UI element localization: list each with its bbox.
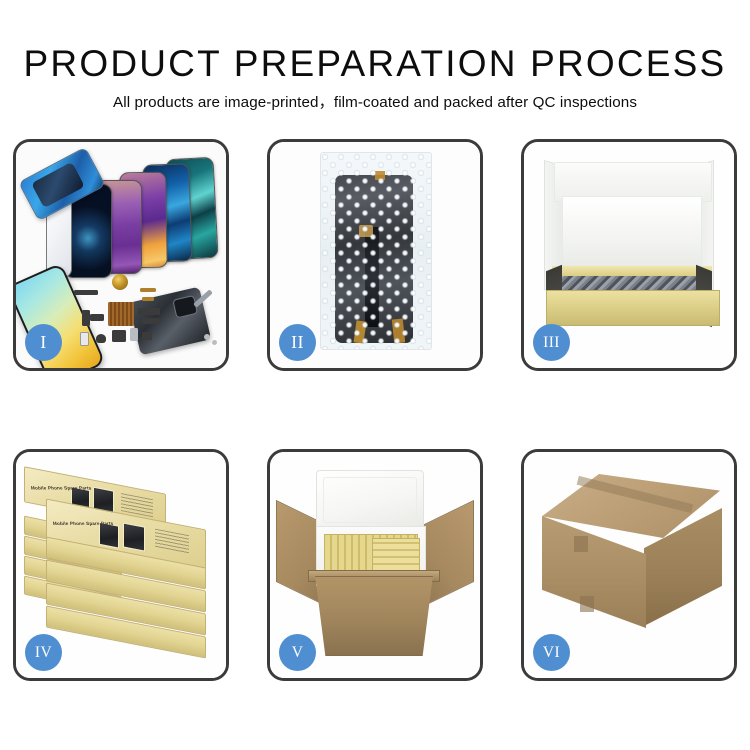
process-step-panel-6[interactable]: VI — [521, 449, 737, 681]
part-flex-cable-2 — [142, 318, 160, 324]
bubble-texture — [321, 153, 431, 349]
step-badge-1: I — [25, 324, 62, 361]
part-logic-board — [108, 302, 134, 326]
part-camera-module — [112, 330, 126, 342]
step-badge-4: IV — [25, 634, 62, 671]
part-connector-strip — [74, 290, 98, 295]
part-flex-cable-1 — [138, 308, 160, 315]
carton-body — [310, 576, 438, 656]
box-label-lower: Mobile Phone Spare Parts — [53, 521, 114, 526]
process-step-panel-5[interactable]: V — [267, 449, 483, 681]
carton-tape-patch-1 — [574, 536, 588, 552]
box-rim — [552, 266, 712, 276]
process-step-panel-1[interactable]: I — [13, 139, 229, 371]
part-taptic-engine — [96, 334, 106, 343]
carton-tape-patch-2 — [580, 596, 594, 612]
part-bracket-1 — [82, 310, 90, 326]
step-badge-3: III — [533, 324, 570, 361]
part-bracket-2 — [90, 314, 104, 321]
box-front-panel — [546, 290, 720, 326]
part-gold-flex-2 — [142, 297, 154, 301]
process-step-grid: I II — [13, 139, 737, 681]
step-badge-5: V — [279, 634, 316, 671]
process-step-panel-3[interactable]: III — [521, 139, 737, 371]
step-badge-2: II — [279, 324, 316, 361]
page-header: PRODUCT PREPARATION PROCESS All products… — [0, 0, 750, 113]
part-speaker-coin — [112, 274, 128, 290]
part-screw-1 — [204, 334, 210, 340]
bubble-wrap-bag — [320, 152, 432, 350]
box-art-chip-4 — [123, 522, 145, 551]
part-sim-tray — [80, 332, 89, 346]
foam-sheet-back — [562, 196, 702, 276]
step-badge-6: VI — [533, 634, 570, 671]
part-screwdriver — [193, 289, 213, 307]
page-title: PRODUCT PREPARATION PROCESS — [0, 42, 750, 86]
foam-box-lid — [316, 470, 424, 530]
part-battery-connector — [130, 328, 138, 341]
process-step-panel-2[interactable]: II — [267, 139, 483, 371]
page-subtitle: All products are image-printed，film-coat… — [0, 93, 750, 113]
part-screw-2 — [212, 340, 217, 345]
process-step-panel-4[interactable]: Mobile Phone Spare Parts Mobile Phone Sp… — [13, 449, 229, 681]
box-art-spec-text-2 — [155, 529, 189, 556]
part-button-set — [142, 332, 152, 340]
part-gold-flex-1 — [140, 288, 156, 292]
box-label-upper: Mobile Phone Spare Parts — [31, 486, 92, 491]
